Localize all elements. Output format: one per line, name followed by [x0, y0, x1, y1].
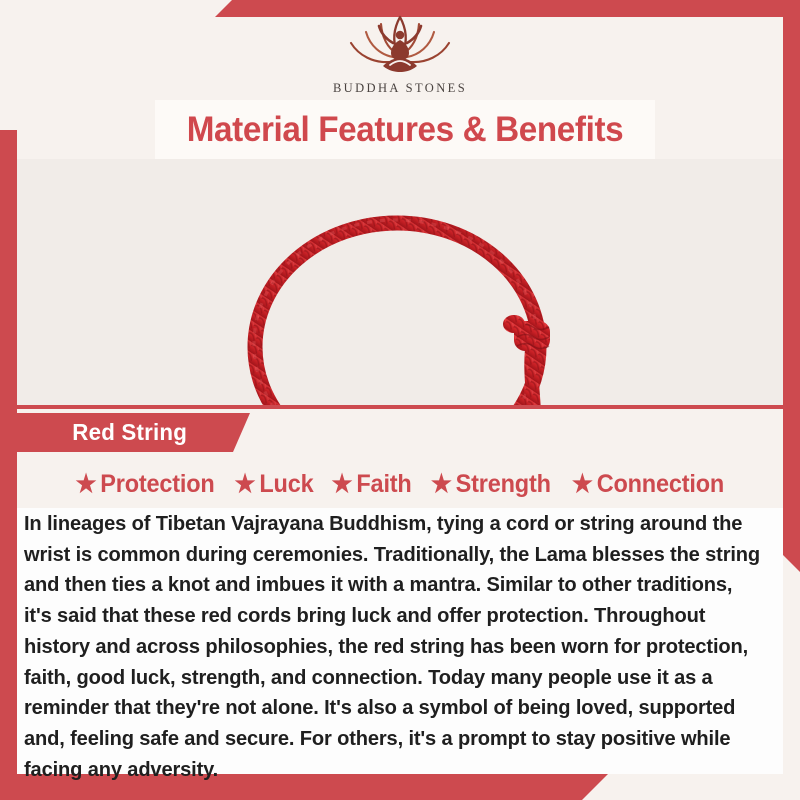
product-area-divider [17, 405, 783, 409]
infographic-poster: BUDDHA STONES Material Features & Benefi… [0, 0, 800, 800]
brand-logo: BUDDHA STONES [0, 8, 800, 96]
decorative-band-left [0, 130, 17, 800]
star-icon: ★ [431, 472, 452, 497]
feature-label: Strength [455, 470, 550, 499]
description-text: In lineages of Tibetan Vajrayana Buddhis… [24, 509, 765, 785]
material-ribbon-label: Red String [17, 419, 187, 446]
feature-item-connection: ★ Connection [572, 470, 724, 499]
feature-label: Connection [597, 470, 724, 499]
lotus-meditation-icon [333, 8, 467, 80]
material-ribbon: Red String [17, 413, 250, 452]
feature-item-faith: ★ Faith [331, 470, 411, 499]
star-icon: ★ [572, 472, 593, 497]
feature-label: Luck [259, 470, 313, 499]
feature-label: Protection [100, 470, 214, 499]
star-icon: ★ [75, 472, 96, 497]
red-string-bracelet-illustration [17, 159, 783, 409]
product-image [17, 159, 783, 409]
feature-item-luck: ★ Luck [234, 470, 313, 499]
page-title: Material Features & Benefits [168, 100, 643, 159]
feature-label: Faith [356, 470, 411, 499]
brand-name: BUDDHA STONES [333, 81, 467, 96]
star-icon: ★ [234, 472, 255, 497]
feature-list: ★ Protection ★ Luck ★ Faith ★ Strength ★… [17, 463, 783, 505]
feature-item-strength: ★ Strength [431, 470, 551, 499]
feature-item-protection: ★ Protection [75, 470, 214, 499]
header: BUDDHA STONES [0, 0, 800, 104]
star-icon: ★ [331, 472, 352, 497]
